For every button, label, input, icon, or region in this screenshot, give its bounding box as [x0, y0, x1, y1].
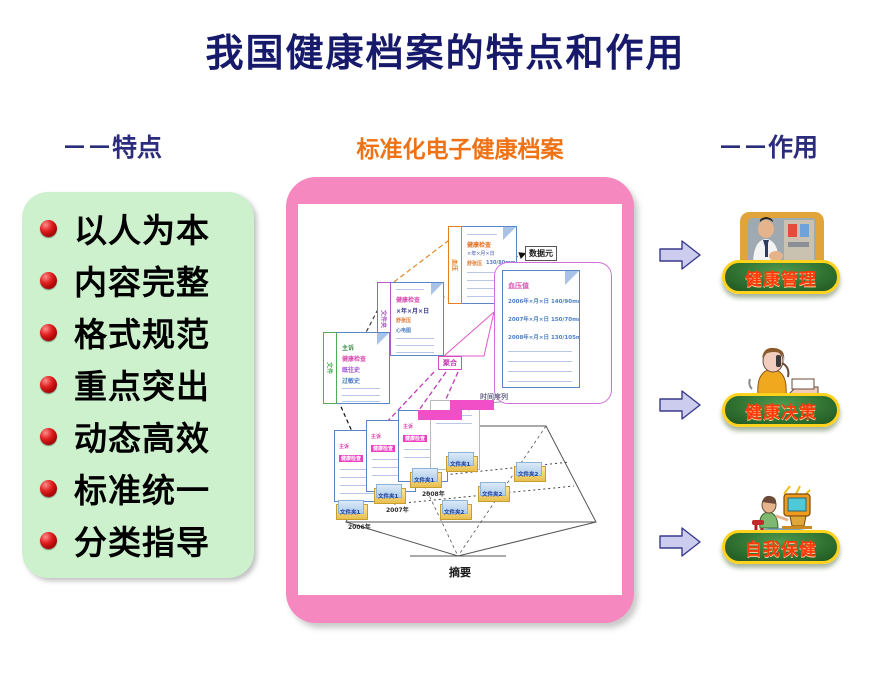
- top-card-tab-label: 血压: [451, 259, 460, 271]
- left-card-line4: 过敏史: [342, 376, 360, 385]
- arrow-right-icon-3: [658, 525, 702, 559]
- bullet-sphere-icon: [40, 428, 57, 445]
- stacked-card-line2: 健康检查: [371, 445, 395, 452]
- feature-label: 格式规范: [74, 308, 210, 356]
- stacked-card-line1: 主诉: [403, 423, 413, 430]
- folder-icon[interactable]: 文件夹1: [374, 484, 404, 504]
- folder-year: 2006年: [348, 522, 371, 531]
- folder-label: 文件夹1: [414, 476, 434, 484]
- bp-card-row: 2006年×月×日 140/90mmHg: [508, 297, 580, 305]
- features-column-header: －－特点: [62, 128, 162, 164]
- arrow-right-icon-2: [658, 388, 702, 422]
- use-badge-label: 健康决策: [745, 398, 817, 423]
- arrow-right-icon-1: [658, 238, 702, 272]
- page-fold-icon: [503, 227, 516, 240]
- folder-icon[interactable]: 文件夹2: [440, 500, 470, 520]
- folder-icon[interactable]: 文件夹2: [514, 462, 544, 482]
- data-element-callout: 数据元: [525, 246, 557, 261]
- page-fold-icon: [431, 283, 443, 295]
- bullet-sphere-icon: [40, 272, 57, 289]
- feature-item[interactable]: 内容完整: [22, 254, 254, 306]
- summary-label: 摘要: [298, 564, 622, 580]
- feature-label: 分类指导: [74, 516, 210, 564]
- use-badge[interactable]: 自我保健: [722, 530, 840, 564]
- feature-item[interactable]: 动态高效: [22, 410, 254, 462]
- left-record-card[interactable]: 主诉 健康检查 既往史 过敏史: [336, 332, 390, 404]
- mid-card-field2: 心电图: [396, 327, 411, 334]
- use-badge-label: 健康管理: [745, 265, 817, 290]
- highlight-ribbon: [418, 410, 462, 420]
- stacked-card-line2: 健康检查: [339, 455, 363, 462]
- mid-card-date: ×年×月×日: [396, 306, 429, 315]
- folder-label: 文件夹2: [518, 470, 538, 478]
- folder-icon[interactable]: 文件夹1: [336, 500, 366, 520]
- highlight-ribbon: [450, 400, 494, 410]
- ehr-diagram-frame: 健康检查 ×年×月×日 舒张压 130/80mmHg 血压 数据元 健康检查 ×…: [286, 177, 634, 623]
- feature-label: 标准统一: [74, 464, 210, 512]
- bp-card-row: 2007年×月×日 150/70mmHg: [508, 315, 580, 323]
- feature-label: 内容完整: [74, 256, 210, 304]
- stacked-card-line2: 健康检查: [403, 435, 427, 442]
- page-fold-icon: [565, 271, 579, 285]
- bullet-sphere-icon: [40, 532, 57, 549]
- feature-label: 以人为本: [74, 204, 210, 252]
- center-column-header: 标准化电子健康档案: [300, 130, 620, 164]
- bp-card-row: 2008年×月×日 130/105mmHg: [508, 333, 580, 341]
- mid-card-field1: 舒张压: [396, 317, 411, 324]
- feature-item[interactable]: 分类指导: [22, 514, 254, 566]
- top-card-tab[interactable]: 血压: [448, 226, 462, 304]
- left-card-tab[interactable]: 文件: [323, 332, 337, 404]
- feature-label: 重点突出: [74, 360, 210, 408]
- use-badge[interactable]: 健康管理: [722, 260, 840, 294]
- bullet-sphere-icon: [40, 376, 57, 393]
- feature-label: 动态高效: [74, 412, 210, 460]
- folder-label: 文件夹1: [340, 508, 360, 516]
- ehr-diagram-canvas: 健康检查 ×年×月×日 舒张压 130/80mmHg 血压 数据元 健康检查 ×…: [298, 204, 622, 595]
- feature-item[interactable]: 以人为本: [22, 202, 254, 254]
- bp-card-title: 血压值: [508, 281, 529, 291]
- top-card-date: ×年×月×日: [467, 250, 495, 257]
- folder-label: 文件夹2: [482, 490, 502, 498]
- page-fold-icon: [377, 333, 389, 345]
- page-title: 我国健康档案的特点和作用: [0, 22, 891, 77]
- feature-item[interactable]: 格式规范: [22, 306, 254, 358]
- bp-value-card[interactable]: 血压值 2006年×月×日 140/90mmHg 2007年×月×日 150/7…: [502, 270, 580, 388]
- use-badge-label: 自我保健: [745, 535, 817, 560]
- bullet-sphere-icon: [40, 220, 57, 237]
- folder-year: 2008年: [422, 489, 445, 498]
- folder-label: 文件夹1: [450, 460, 470, 468]
- folder-year: 2007年: [386, 505, 409, 514]
- folder-label: 文件夹2: [444, 508, 464, 516]
- stacked-card-line1: 主诉: [371, 433, 381, 440]
- top-card-title: 健康检查: [467, 240, 491, 249]
- mid-record-card[interactable]: 健康检查 ×年×月×日 舒张压 心电图: [390, 282, 444, 356]
- uses-column-header: －－作用: [718, 128, 818, 164]
- stacked-card-line1: 主诉: [339, 443, 349, 450]
- left-card-line2: 健康检查: [342, 354, 366, 363]
- left-card-tab-label: 文件: [326, 362, 335, 374]
- mid-card-title: 健康检查: [396, 295, 420, 304]
- folder-icon[interactable]: 文件夹1: [446, 452, 476, 472]
- feature-item[interactable]: 标准统一: [22, 462, 254, 514]
- folder-label: 文件夹1: [378, 492, 398, 500]
- left-card-line3: 既往史: [342, 365, 360, 374]
- bullet-sphere-icon: [40, 324, 57, 341]
- left-card-line1: 主诉: [342, 343, 354, 352]
- mid-card-tab-label: 文件夹: [380, 310, 389, 328]
- feature-item[interactable]: 重点突出: [22, 358, 254, 410]
- features-panel: 以人为本 内容完整 格式规范 重点突出 动态高效 标准统一 分类指导: [22, 192, 254, 578]
- use-badge[interactable]: 健康决策: [722, 393, 840, 427]
- folder-icon[interactable]: 文件夹1: [410, 468, 440, 488]
- folder-icon[interactable]: 文件夹2: [478, 482, 508, 502]
- bullet-sphere-icon: [40, 480, 57, 497]
- top-card-field: 舒张压: [467, 260, 482, 267]
- aggregate-tag: 聚合: [438, 356, 462, 370]
